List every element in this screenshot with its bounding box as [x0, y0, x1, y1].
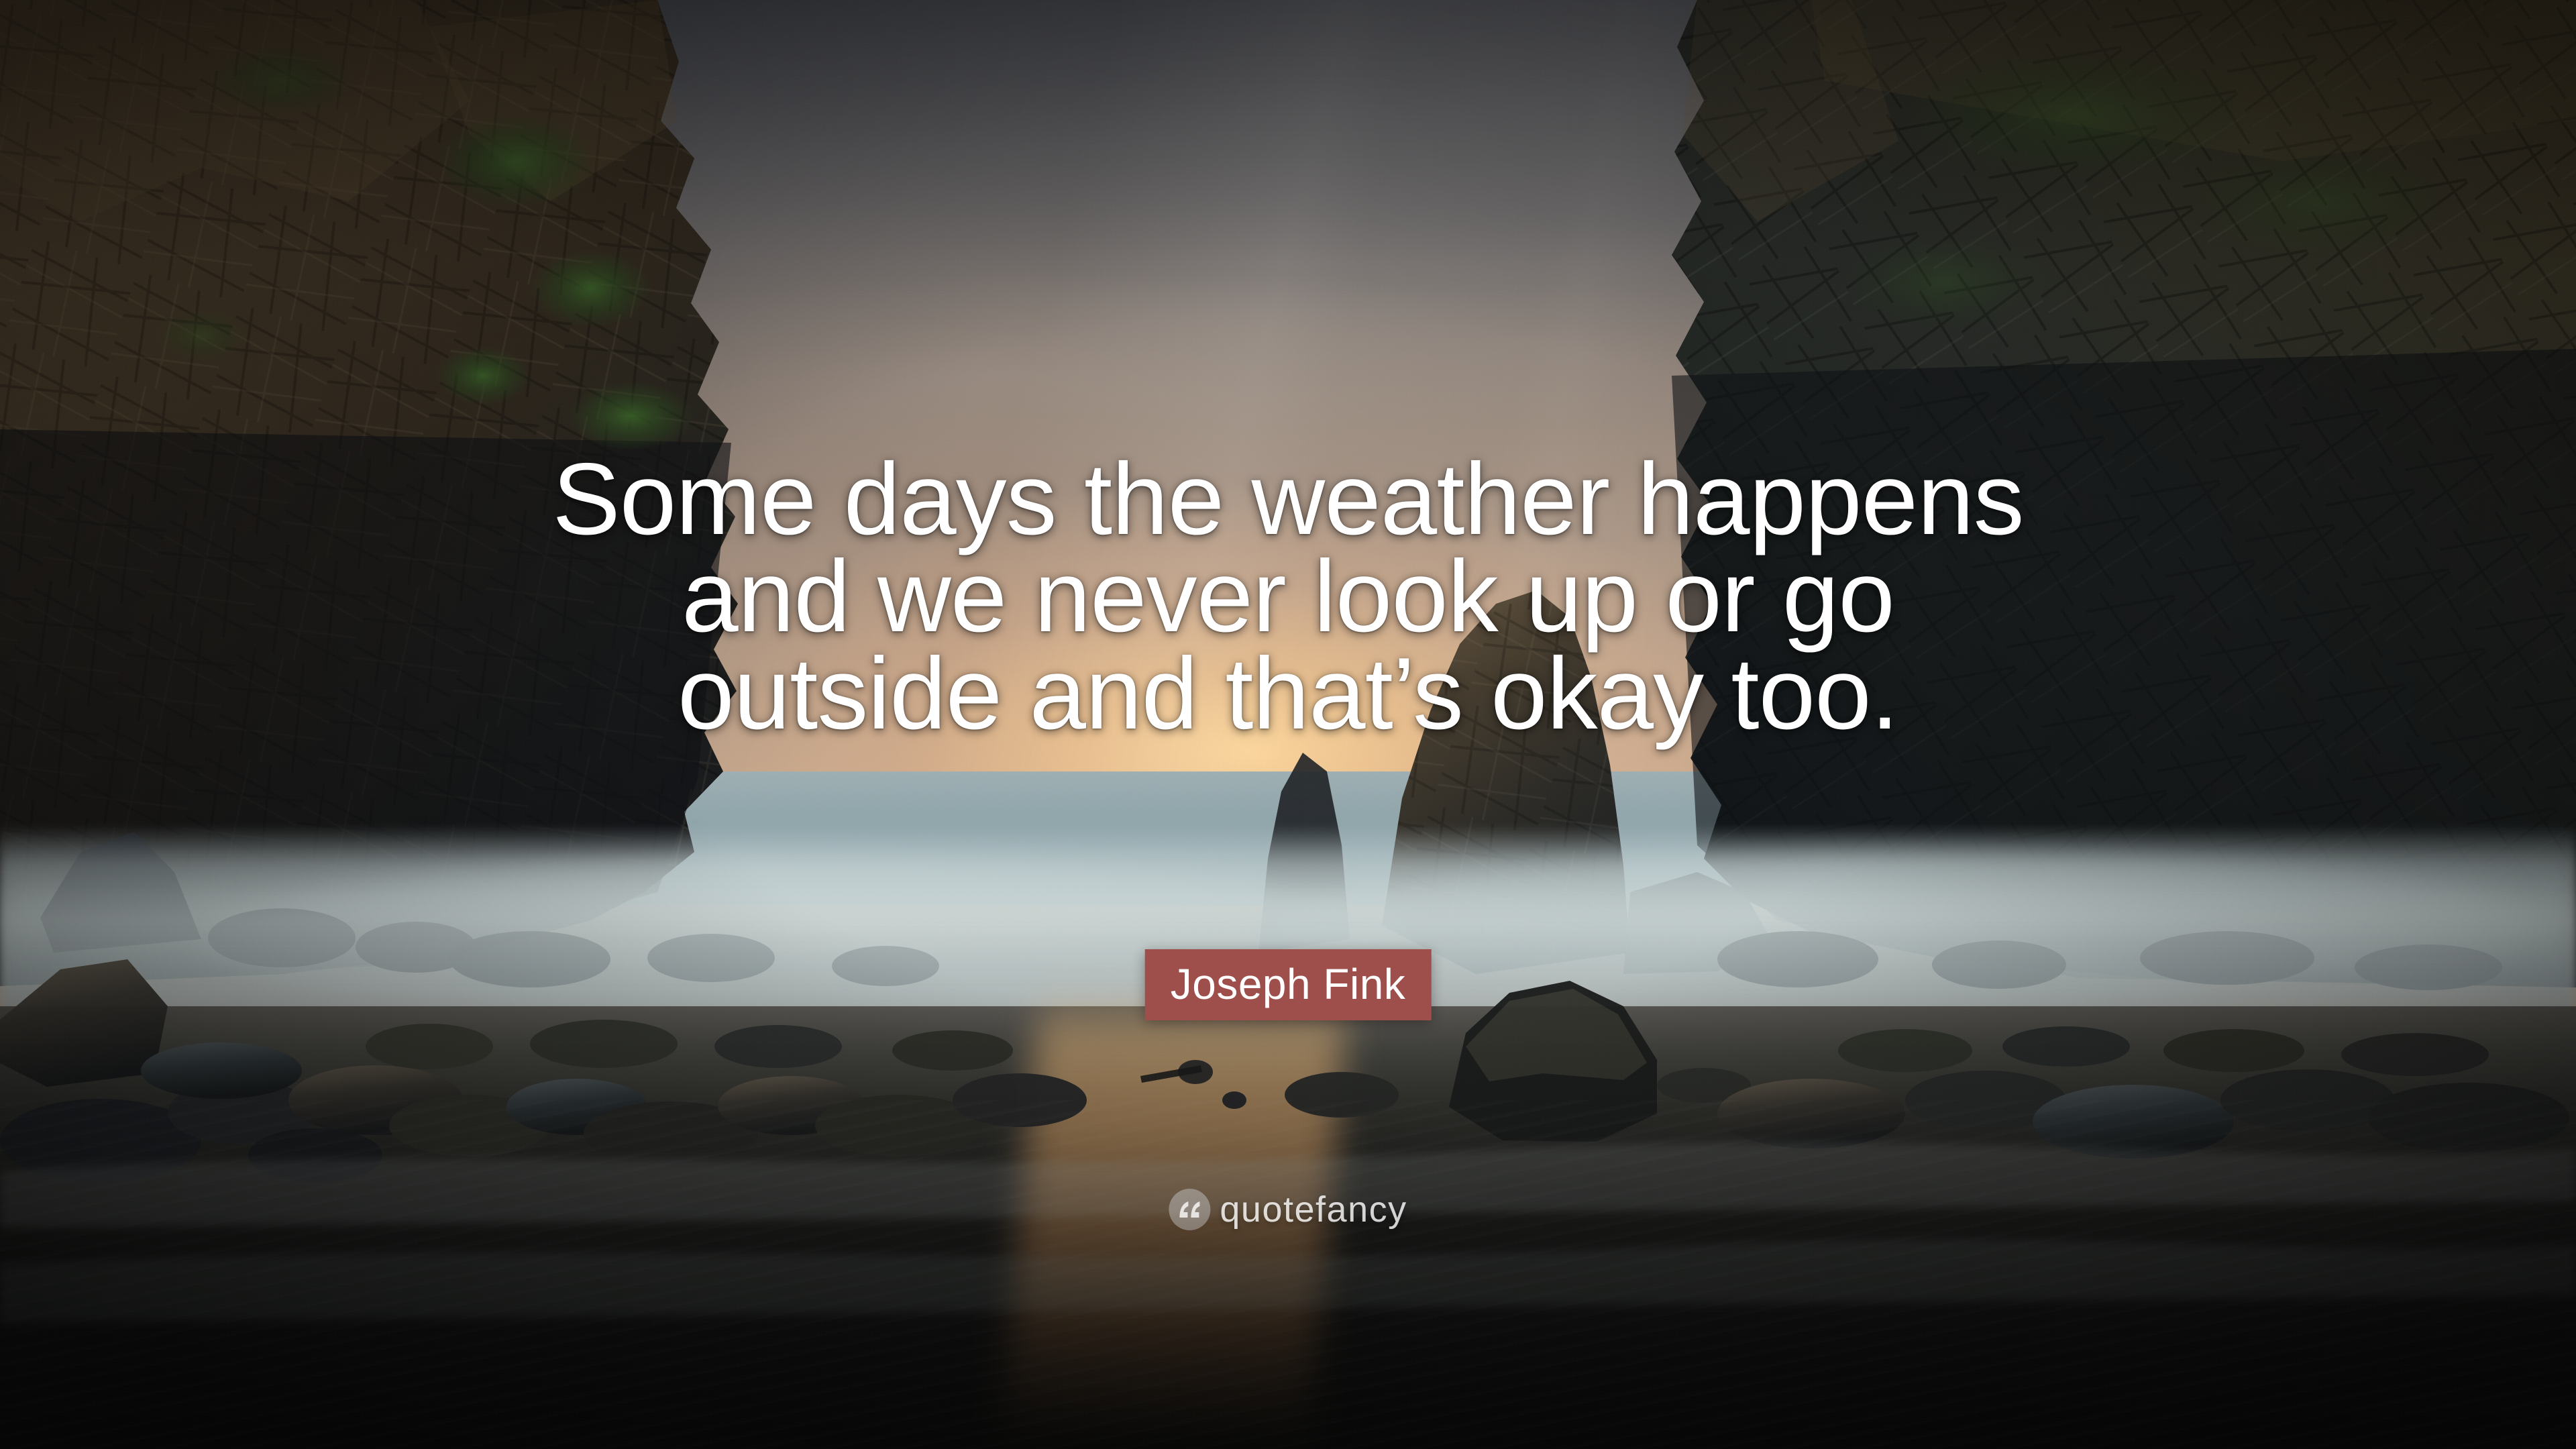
quote-text-block: Some days the weather happens and we nev… [0, 451, 2576, 743]
quote-mark-icon [1169, 1189, 1210, 1230]
overlay-content: Some days the weather happens and we nev… [0, 0, 2576, 1449]
quote-line-3: outside and that’s okay too. [0, 645, 2576, 743]
quotefancy-watermark[interactable]: quotefancy [1169, 1189, 1407, 1230]
author-badge[interactable]: Joseph Fink [1145, 949, 1432, 1020]
quote-line-2: and we never look up or go [0, 548, 2576, 645]
quote-line-1: Some days the weather happens [0, 451, 2576, 548]
quote-poster: Some days the weather happens and we nev… [0, 0, 2576, 1449]
watermark-brand: quotefancy [1220, 1191, 1407, 1228]
